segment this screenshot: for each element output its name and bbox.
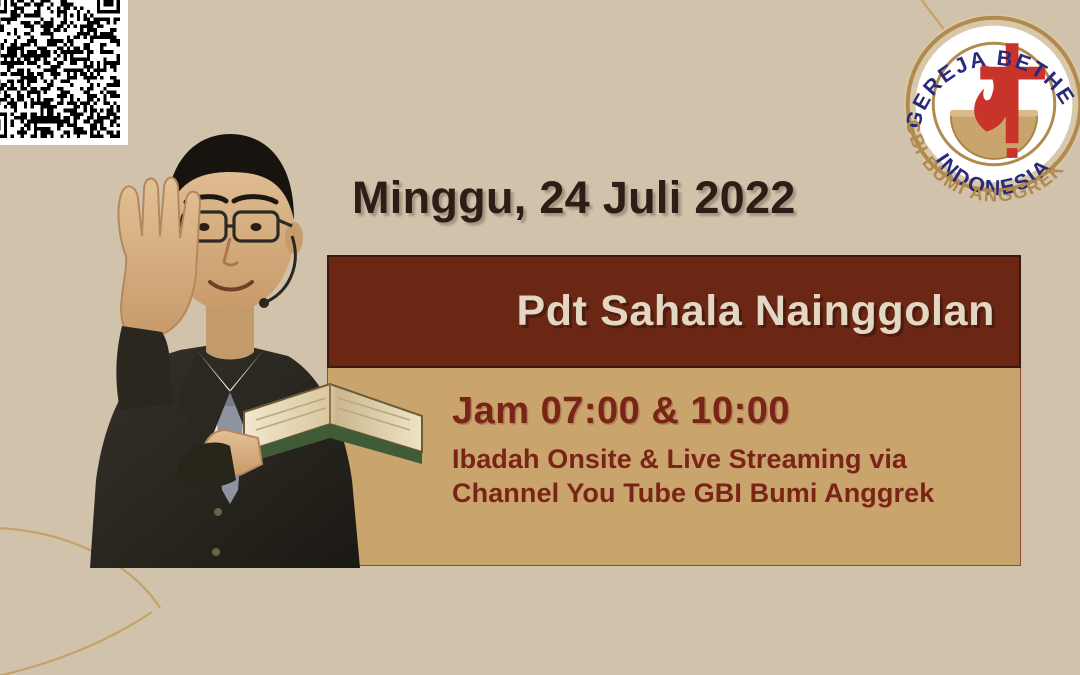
service-detail-line-1: Ibadah Onsite & Live Streaming via bbox=[452, 442, 1020, 477]
suit-button-1 bbox=[214, 508, 222, 516]
service-detail-line-2: Channel You Tube GBI Bumi Anggrek bbox=[452, 476, 1020, 511]
church-logo: GEREJA BETHEL INDONESIA GBI BUMI ANGGREK bbox=[896, 6, 1080, 202]
mic-capsule bbox=[259, 298, 269, 308]
sleeve-left bbox=[116, 326, 172, 410]
speaker-name: Pdt Sahala Nainggolan bbox=[516, 287, 995, 336]
decorative-arc-lower bbox=[0, 612, 152, 675]
logo-cross-base bbox=[1007, 148, 1018, 158]
service-time: Jam 07:00 & 10:00 bbox=[452, 390, 1020, 434]
eye-right bbox=[251, 223, 262, 231]
church-logo-graphic: GEREJA BETHEL INDONESIA GBI BUMI ANGGREK bbox=[896, 6, 1080, 202]
speaker-name-banner: Pdt Sahala Nainggolan bbox=[327, 255, 1021, 368]
poster-canvas: Minggu, 24 Juli 2022 Pdt Sahala Nainggol… bbox=[0, 0, 1080, 675]
raised-hand bbox=[119, 178, 200, 337]
speaker-photo bbox=[30, 60, 430, 568]
service-info-panel: Jam 07:00 & 10:00 Ibadah Onsite & Live S… bbox=[327, 368, 1021, 566]
speaker-photo-illustration bbox=[30, 60, 430, 568]
eye-left bbox=[199, 223, 210, 231]
suit-button-2 bbox=[212, 548, 220, 556]
